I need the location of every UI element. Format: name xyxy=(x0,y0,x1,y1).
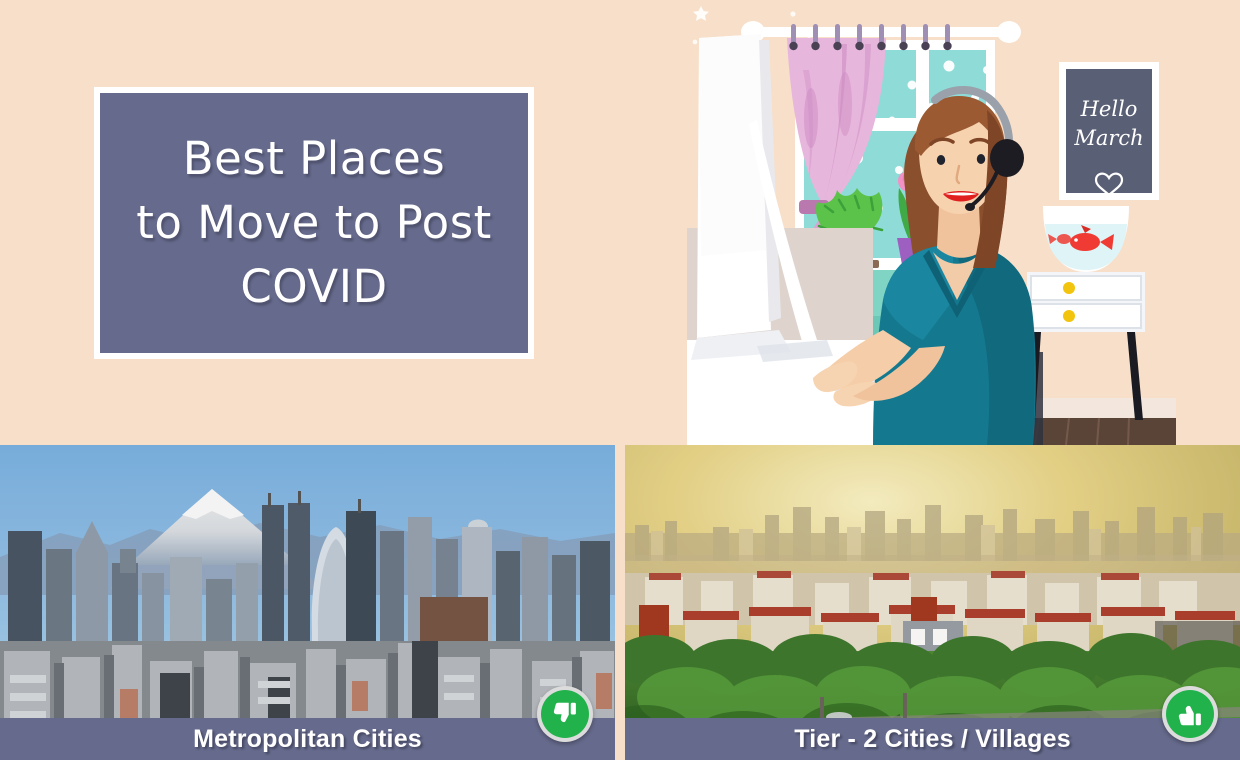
title-card: Best Places to Move to Post COVID xyxy=(85,78,543,368)
page-title-line-1: Best Places xyxy=(183,127,446,191)
verdict-badge-metropolitan[interactable] xyxy=(537,686,593,742)
page-title-line-2: to Move to Post xyxy=(136,191,492,255)
headset-earcup xyxy=(990,139,1024,177)
tokyo-skyline-photo xyxy=(0,445,615,760)
headset-mic xyxy=(965,203,975,211)
caption-label-metropolitan: Metropolitan Cities xyxy=(193,725,422,754)
verdict-badge-tier2[interactable] xyxy=(1162,686,1218,742)
drawer-knob-top xyxy=(1063,282,1075,294)
thumbs-down-icon xyxy=(541,690,589,738)
work-from-home-illustration: Hello March xyxy=(687,0,1176,445)
caption-bar-tier2: Tier - 2 Cities / Villages xyxy=(625,718,1240,760)
caption-bar-metropolitan: Metropolitan Cities xyxy=(0,718,615,760)
panel-metropolitan-cities[interactable]: Metropolitan Cities xyxy=(0,445,615,760)
poster-line-2: March xyxy=(1073,126,1143,150)
tier2-city-photo xyxy=(625,445,1240,760)
eye-left xyxy=(937,155,945,165)
curtain-rod-finial-right xyxy=(997,21,1021,43)
caption-label-tier2: Tier - 2 Cities / Villages xyxy=(794,725,1071,754)
hello-march-poster: Hello March xyxy=(1059,62,1159,200)
drawer-knob-bottom xyxy=(1063,310,1075,322)
curtain-highlight-2 xyxy=(838,72,852,136)
poster-line-1: Hello xyxy=(1080,97,1138,121)
title-card-frame: Best Places to Move to Post COVID xyxy=(94,87,534,359)
curtain-highlight-1 xyxy=(804,88,818,148)
thumbs-up-icon xyxy=(1166,690,1214,738)
eye-right xyxy=(977,154,985,164)
page-title-line-3: COVID xyxy=(240,255,387,319)
panel-tier-2-cities[interactable]: Tier - 2 Cities / Villages xyxy=(625,445,1240,760)
